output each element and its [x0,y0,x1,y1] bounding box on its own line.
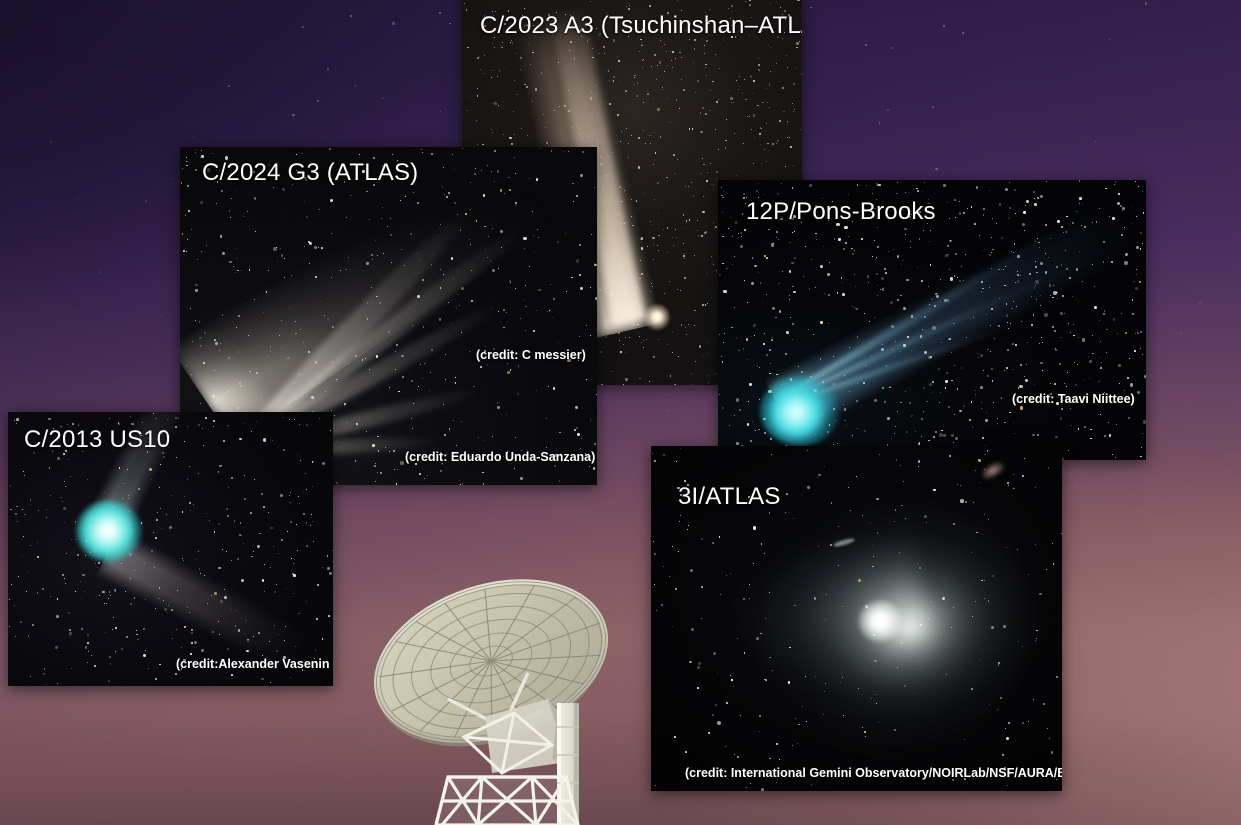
photo-title-c2023a3: C/2023 A3 (Tsuchinshan–ATLAS) [480,12,802,40]
comet-nucleus-a3 [644,304,670,330]
radio-telescope-dish [352,577,630,825]
collage-stage: C/2023 A3 (Tsuchinshan–ATLAS) (credit: C… [0,0,1241,825]
photo-credit-12p: (credit: Taavi Niittee) [1012,392,1135,406]
photo-credit-c2024g3: (credit: Eduardo Unda-Sanzana) [405,450,595,464]
photo-card-12p-pons-brooks[interactable]: 12P/Pons-Brooks (credit: Taavi Niittee) [718,180,1146,460]
photo-card-c2013us10[interactable]: C/2013 US10 (credit:Alexander Vasenin ) [8,412,333,686]
comet-coma-12p [760,376,840,446]
photo-title-12p: 12P/Pons-Brooks [746,198,936,226]
photo-title-3i-atlas: 3I/ATLAS [678,483,781,511]
photo-title-c2013us10: C/2013 US10 [24,426,170,454]
comet-nucleus-3i [858,600,902,642]
photo-card-3i-atlas[interactable]: 3I/ATLAS (credit: International Gemini O… [651,446,1062,791]
photo-credit-3i-atlas: (credit: International Gemini Observator… [685,766,1062,780]
photo-credit-c2023a3: (credit: C messier) [476,348,586,362]
comet-coma-us10 [76,500,142,562]
photo-credit-c2013us10: (credit:Alexander Vasenin ) [176,657,333,671]
photo-title-c2024g3: C/2024 G3 (ATLAS) [202,159,418,187]
